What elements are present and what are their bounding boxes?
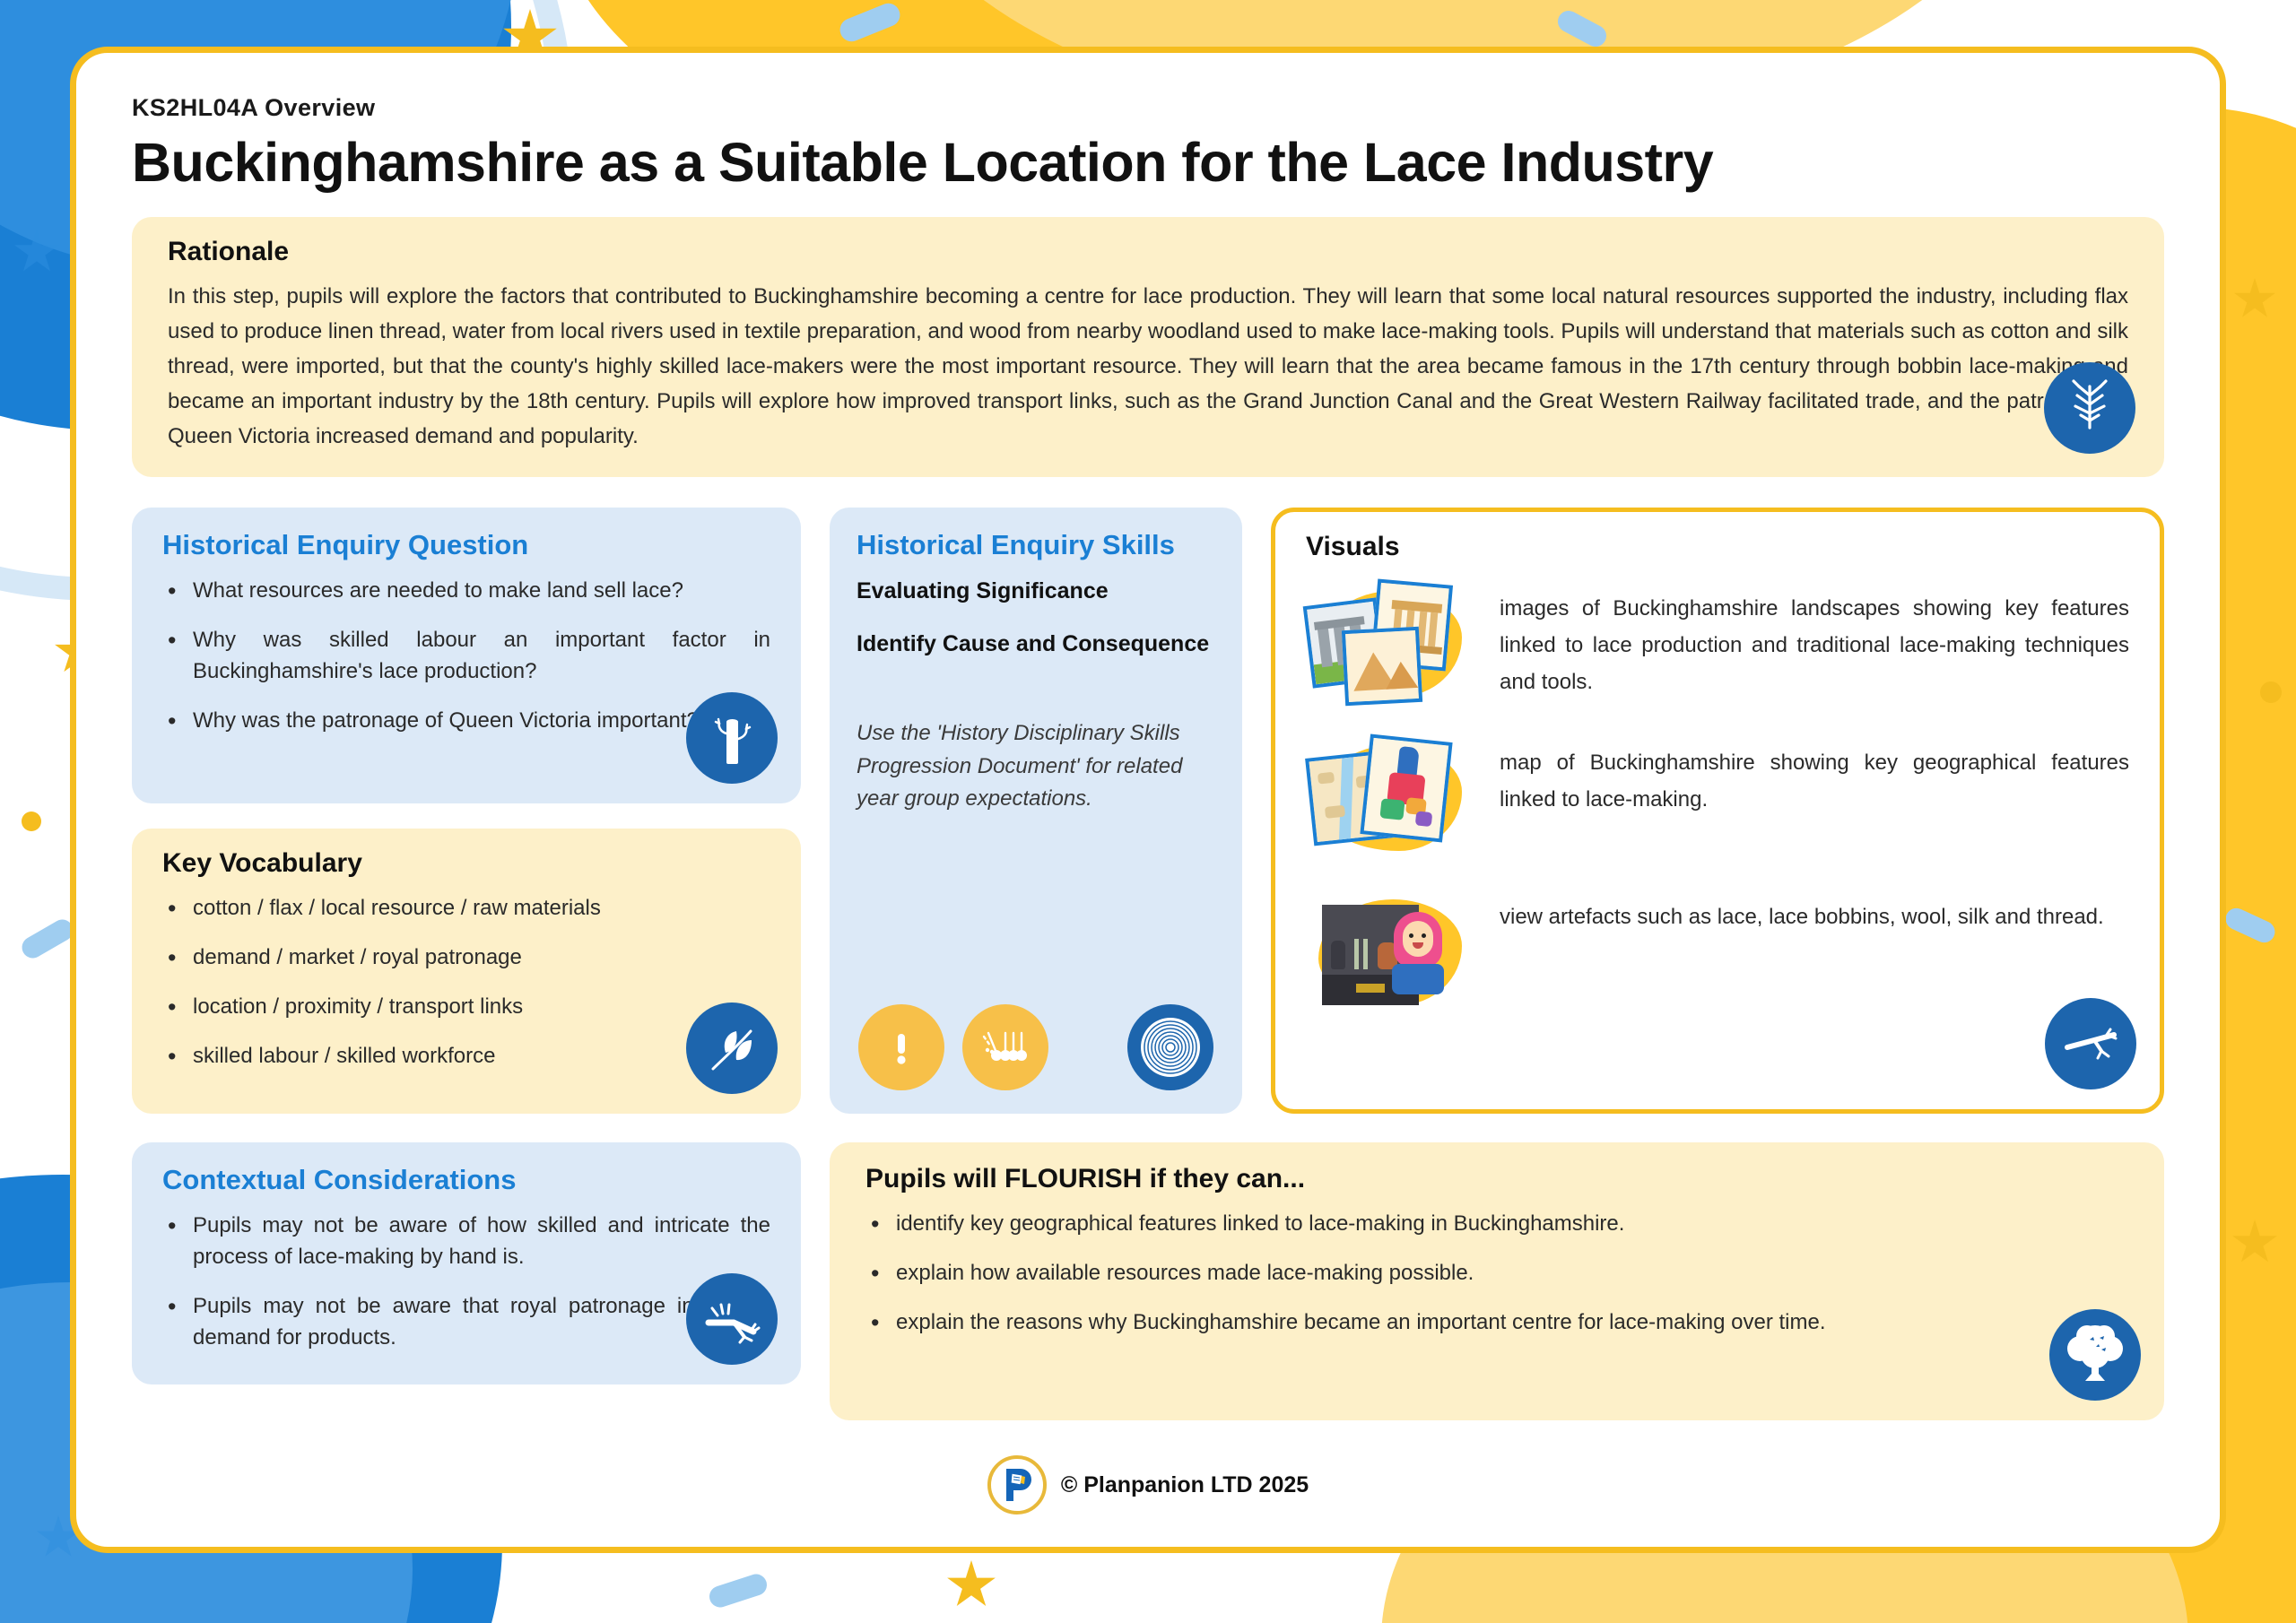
tree-rings-icon (1127, 1004, 1213, 1090)
visuals-item-text: view artefacts such as lace, lace bobbin… (1500, 885, 2129, 936)
enquiry-skills-panel: Historical Enquiry Skills Evaluating Sig… (830, 508, 1242, 1114)
enquiry-question-list: What resources are needed to make land s… (162, 576, 770, 736)
trunk-icon (686, 692, 778, 784)
page-eyebrow: KS2HL04A Overview (132, 94, 2164, 122)
list-item: demand / market / royal patronage (162, 942, 770, 974)
list-item: Pupils may not be aware that royal patro… (162, 1291, 770, 1354)
leaves-icon (686, 1002, 778, 1094)
branch-icon (2045, 998, 2136, 1089)
exclamation-icon (858, 1004, 944, 1090)
visuals-item-text: map of Buckinghamshire showing key geogr… (1500, 731, 2129, 819)
tree-icon (2049, 1309, 2141, 1401)
left-column: Historical Enquiry Question What resourc… (132, 508, 801, 1114)
rationale-heading: Rationale (168, 237, 2128, 267)
photo-county-map (1360, 734, 1452, 843)
planpanion-logo (987, 1455, 1047, 1515)
enquiry-question-heading: Historical Enquiry Question (162, 529, 770, 561)
roots-icon (2044, 362, 2135, 454)
list-item: explain how available resources made lac… (865, 1258, 2128, 1289)
sapling-icon (686, 1273, 778, 1365)
enquiry-question-panel: Historical Enquiry Question What resourc… (132, 508, 801, 803)
newtons-cradle-icon (962, 1004, 1048, 1090)
rationale-panel: Rationale In this step, pupils will expl… (132, 217, 2164, 477)
overview-card: KS2HL04A Overview Buckinghamshire as a S… (70, 47, 2226, 1553)
key-vocabulary-heading: Key Vocabulary (162, 848, 770, 879)
landscape-photos-thumb (1306, 577, 1476, 711)
contextual-considerations-list: Pupils may not be aware of how skilled a… (162, 1211, 770, 1353)
skill-item: Evaluating Significance (857, 576, 1215, 607)
contextual-considerations-heading: Contextual Considerations (162, 1164, 770, 1196)
visuals-heading: Visuals (1306, 532, 2129, 562)
key-vocabulary-list: cotton / flax / local resource / raw mat… (162, 893, 770, 1072)
photo-pyramids (1342, 627, 1422, 706)
museum-artefacts-thumb (1306, 885, 1476, 1020)
contextual-considerations-panel: Contextual Considerations Pupils may not… (132, 1142, 801, 1384)
map-thumb (1306, 731, 1476, 865)
rationale-text: In this step, pupils will explore the fa… (168, 280, 2128, 454)
flourish-list: identify key geographical features linke… (865, 1209, 2128, 1338)
pill-decoration (18, 916, 77, 962)
visuals-panel: Visuals (1271, 508, 2164, 1114)
middle-row: Historical Enquiry Question What resourc… (132, 508, 2164, 1114)
list-item: What resources are needed to make land s… (162, 576, 770, 607)
skills-icon-row (858, 1004, 1213, 1090)
list-item: Why was skilled labour an important fact… (162, 625, 770, 688)
middle-column: Historical Enquiry Skills Evaluating Sig… (830, 508, 1242, 1114)
bottom-row: Contextual Considerations Pupils may not… (132, 1142, 2164, 1420)
skill-item: Identify Cause and Consequence (857, 629, 1215, 660)
dot-decoration (22, 811, 41, 831)
page-title: Buckinghamshire as a Suitable Location f… (132, 131, 2164, 194)
list-item: location / proximity / transport links (162, 992, 770, 1023)
flourish-heading: Pupils will FLOURISH if they can... (865, 1164, 2128, 1194)
list-item: explain the reasons why Buckinghamshire … (865, 1307, 2128, 1339)
dot-decoration (2260, 681, 2282, 703)
list-item: Pupils may not be aware of how skilled a… (162, 1211, 770, 1273)
list-item: cotton / flax / local resource / raw mat… (162, 893, 770, 924)
visuals-item-text: images of Buckinghamshire landscapes sho… (1500, 577, 2129, 700)
list-item: Why was the patronage of Queen Victoria … (162, 706, 770, 737)
list-item: identify key geographical features linke… (865, 1209, 2128, 1240)
visuals-item: map of Buckinghamshire showing key geogr… (1306, 731, 2129, 865)
visuals-item: view artefacts such as lace, lace bobbin… (1306, 885, 2129, 1020)
visuals-item: images of Buckinghamshire landscapes sho… (1306, 577, 2129, 711)
footer-copyright: © Planpanion LTD 2025 (1061, 1472, 1309, 1498)
key-vocabulary-panel: Key Vocabulary cotton / flax / local res… (132, 829, 801, 1114)
skills-note: Use the 'History Disciplinary Skills Pro… (857, 717, 1215, 815)
museum-visitor-figure (1388, 912, 1446, 1009)
flourish-panel: Pupils will FLOURISH if they can... iden… (830, 1142, 2164, 1420)
list-item: skilled labour / skilled workforce (162, 1041, 770, 1072)
enquiry-skills-heading: Historical Enquiry Skills (857, 529, 1215, 561)
right-column: Visuals (1271, 508, 2164, 1114)
footer: © Planpanion LTD 2025 (76, 1455, 2220, 1515)
